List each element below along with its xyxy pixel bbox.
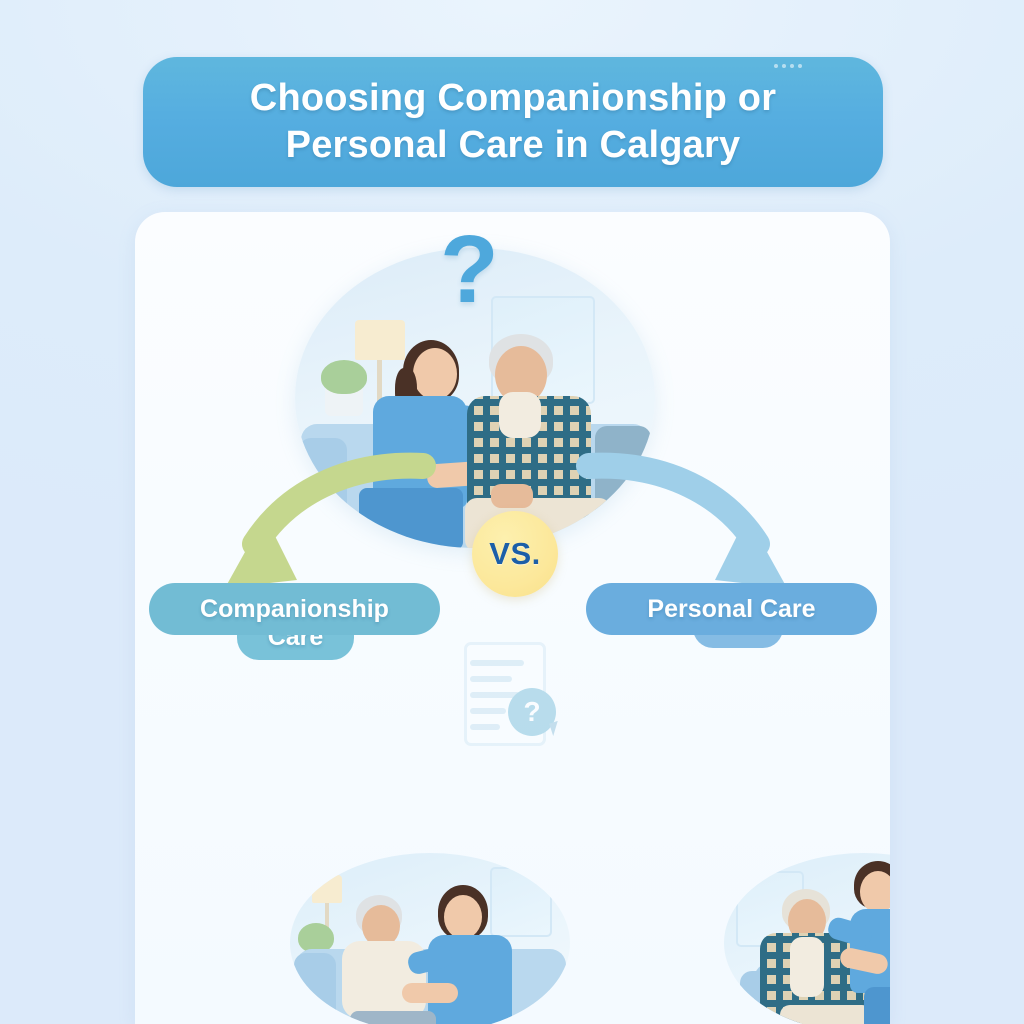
- caregiver-head: [444, 895, 482, 939]
- senior-collar: [499, 392, 541, 438]
- senior-shirt-front: [790, 937, 824, 997]
- window-icon: [490, 867, 552, 937]
- infographic-title-bar: Choosing Companionship or Personal Care …: [143, 57, 883, 187]
- senior-legs: [780, 1005, 872, 1024]
- nurse-head: [860, 871, 890, 913]
- vs-badge: VS.: [472, 511, 558, 597]
- personal-care-pill: Personal Care: [586, 583, 877, 635]
- title-line-2: Personal Care in Calgary: [286, 124, 741, 166]
- page-title: Choosing Companionship or Personal Care …: [224, 75, 802, 169]
- sofa-arm-left: [294, 953, 336, 1024]
- vs-label: VS.: [489, 536, 540, 572]
- document-line: [470, 660, 524, 666]
- joined-hands: [402, 983, 458, 1003]
- personal-care-pill-line1: Personal Care: [647, 595, 815, 624]
- arrow-right-personal-care: [575, 460, 875, 600]
- lamp-icon: [355, 320, 405, 360]
- companionship-pill: Companionship: [149, 583, 440, 635]
- document-question-badge-icon: ?: [508, 688, 556, 736]
- plant-leaves-icon: [321, 360, 367, 394]
- lamp-icon: [312, 875, 342, 903]
- title-line-1: Choosing Companionship or: [250, 77, 776, 119]
- arrow-left-companionship: [137, 460, 437, 600]
- senior-legs: [350, 1011, 436, 1024]
- document-line: [470, 708, 506, 714]
- title-decor-dots: [774, 64, 802, 68]
- senior-hand: [491, 484, 533, 508]
- document-line: [470, 676, 512, 682]
- hero-question-mark-icon: ?: [440, 222, 499, 318]
- companionship-photo: [290, 853, 570, 1024]
- caregiver-head: [413, 348, 457, 400]
- companionship-pill-line1: Companionship: [200, 595, 389, 624]
- cursor-arrow-icon: [549, 721, 562, 736]
- document-line: [470, 724, 500, 730]
- document-checklist-icon: ?: [456, 638, 566, 758]
- personal-care-photo: [724, 853, 890, 1024]
- nurse-legs: [864, 987, 890, 1024]
